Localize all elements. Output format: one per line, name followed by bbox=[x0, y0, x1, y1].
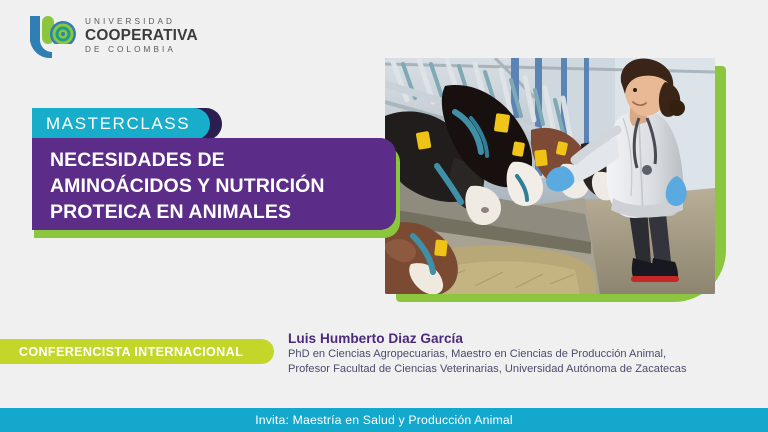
speaker-info: Luis Humberto Diaz García PhD en Ciencia… bbox=[288, 331, 758, 376]
conferencista-badge-label: CONFERENCISTA INTERNACIONAL bbox=[19, 345, 255, 359]
speaker-credential-line-2: Profesor Facultad de Ciencias Veterinari… bbox=[288, 362, 758, 377]
uc-logo-mark bbox=[28, 14, 76, 58]
title-line-1: NECESIDADES DE bbox=[50, 147, 380, 173]
speaker-name: Luis Humberto Diaz García bbox=[288, 331, 758, 347]
title-line-2: AMINOÁCIDOS Y NUTRICIÓN bbox=[50, 173, 380, 199]
conferencista-badge: CONFERENCISTA INTERNACIONAL bbox=[0, 339, 274, 364]
masterclass-tab: MASTERCLASS bbox=[32, 108, 210, 140]
footer-bar: Invita: Maestría en Salud y Producción A… bbox=[0, 408, 768, 432]
footer-invita-label: Invita: Maestría en Salud y Producción A… bbox=[255, 413, 513, 427]
masterclass-label: MASTERCLASS bbox=[32, 114, 190, 134]
university-logo-wordmark: UNIVERSIDAD COOPERATIVA DE COLOMBIA bbox=[85, 18, 198, 54]
logo-line-universidad: UNIVERSIDAD bbox=[85, 18, 198, 26]
speaker-credential-line-1: PhD en Ciencias Agropecuarias, Maestro e… bbox=[288, 347, 758, 362]
university-logo: UNIVERSIDAD COOPERATIVA DE COLOMBIA bbox=[28, 14, 198, 58]
speaker-photo bbox=[385, 58, 715, 294]
logo-line-cooperativa: COOPERATIVA bbox=[85, 28, 198, 43]
logo-line-de-colombia: DE COLOMBIA bbox=[85, 46, 198, 54]
masterclass-title-box: NECESIDADES DE AMINOÁCIDOS Y NUTRICIÓN P… bbox=[32, 138, 396, 230]
title-line-3: PROTEICA EN ANIMALES bbox=[50, 199, 380, 225]
